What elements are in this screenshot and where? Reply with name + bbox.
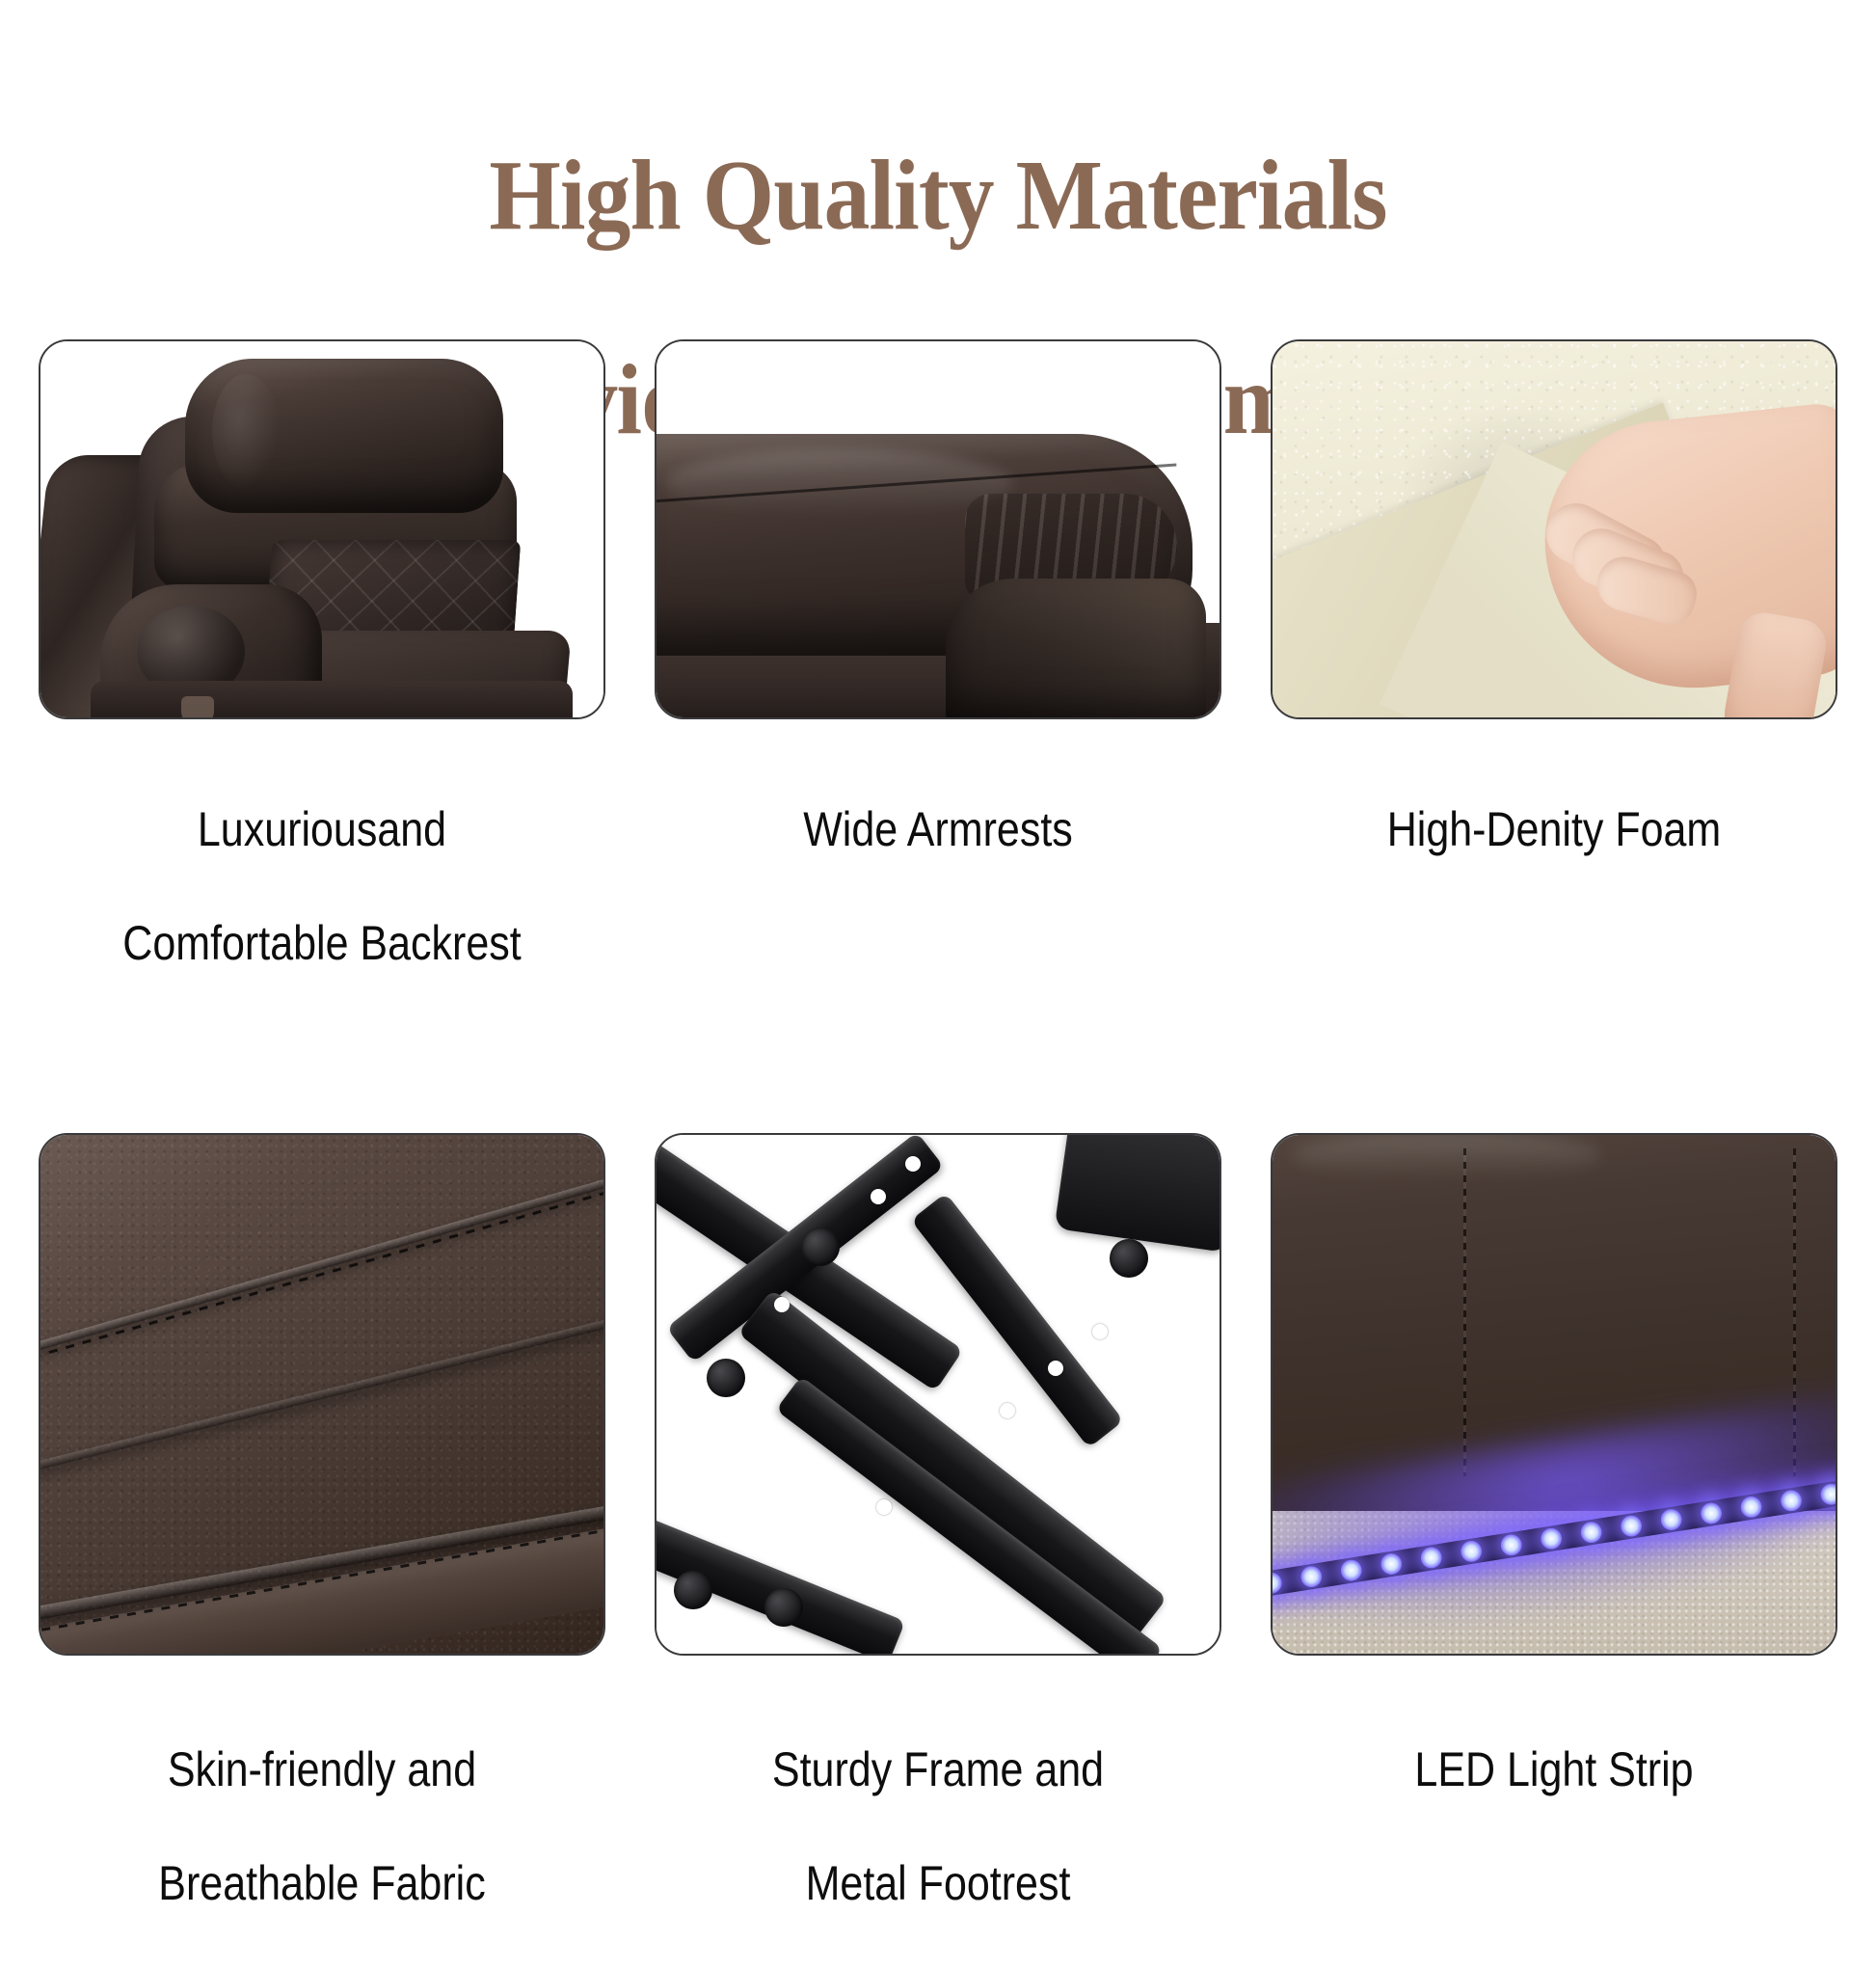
caption-fabric: Skin-friendly and Breathable Fabric xyxy=(78,1685,566,1969)
feature-row-1: Luxuriousand Comfortable Backrest xyxy=(39,339,1837,1029)
feature-image-armrests xyxy=(655,339,1221,719)
feature-row-2: Skin-friendly and Breathable Fabric xyxy=(39,1133,1837,1969)
caption-frame-line-1: Sturdy Frame and xyxy=(694,1741,1182,1798)
caption-led: LED Light Strip xyxy=(1310,1685,1798,1855)
caption-frame-line-2: Metal Footrest xyxy=(694,1855,1182,1912)
feature-cell-led: LED Light Strip xyxy=(1271,1133,1837,1969)
caption-armrests: Wide Armrests xyxy=(694,744,1182,915)
foam-hand-illustration xyxy=(1273,341,1836,717)
armrest-illustration xyxy=(657,341,1219,717)
feature-cell-foam: High-Denity Foam xyxy=(1271,339,1837,1029)
caption-led-line-1: LED Light Strip xyxy=(1310,1741,1798,1798)
feature-image-foam xyxy=(1271,339,1837,719)
feature-image-frame xyxy=(655,1133,1221,1656)
leather-texture-illustration xyxy=(40,1135,603,1654)
caption-armrests-line-1: Wide Armrests xyxy=(694,801,1182,858)
caption-foam: High-Denity Foam xyxy=(1310,744,1798,915)
caption-foam-line-1: High-Denity Foam xyxy=(1310,801,1798,858)
feature-cell-frame: Sturdy Frame and Metal Footrest xyxy=(655,1133,1221,1969)
feature-image-led xyxy=(1271,1133,1837,1656)
caption-fabric-line-2: Breathable Fabric xyxy=(78,1855,566,1912)
caption-backrest: Luxuriousand Comfortable Backrest xyxy=(78,744,566,1029)
feature-grid: Luxuriousand Comfortable Backrest xyxy=(39,339,1837,1969)
feature-cell-fabric: Skin-friendly and Breathable Fabric xyxy=(39,1133,605,1969)
feature-image-fabric xyxy=(39,1133,605,1656)
caption-frame: Sturdy Frame and Metal Footrest xyxy=(694,1685,1182,1969)
caption-backrest-line-2: Comfortable Backrest xyxy=(78,915,566,972)
page-title-line-1: High Quality Materials xyxy=(75,145,1801,247)
feature-cell-backrest: Luxuriousand Comfortable Backrest xyxy=(39,339,605,1029)
feature-cell-armrests: Wide Armrests xyxy=(655,339,1221,1029)
feature-image-backrest xyxy=(39,339,605,719)
metal-frame-illustration xyxy=(657,1135,1219,1654)
recliner-chair-illustration xyxy=(40,341,603,717)
caption-fabric-line-1: Skin-friendly and xyxy=(78,1741,566,1798)
led-strip-illustration xyxy=(1273,1135,1836,1654)
caption-backrest-line-1: Luxuriousand xyxy=(78,801,566,858)
